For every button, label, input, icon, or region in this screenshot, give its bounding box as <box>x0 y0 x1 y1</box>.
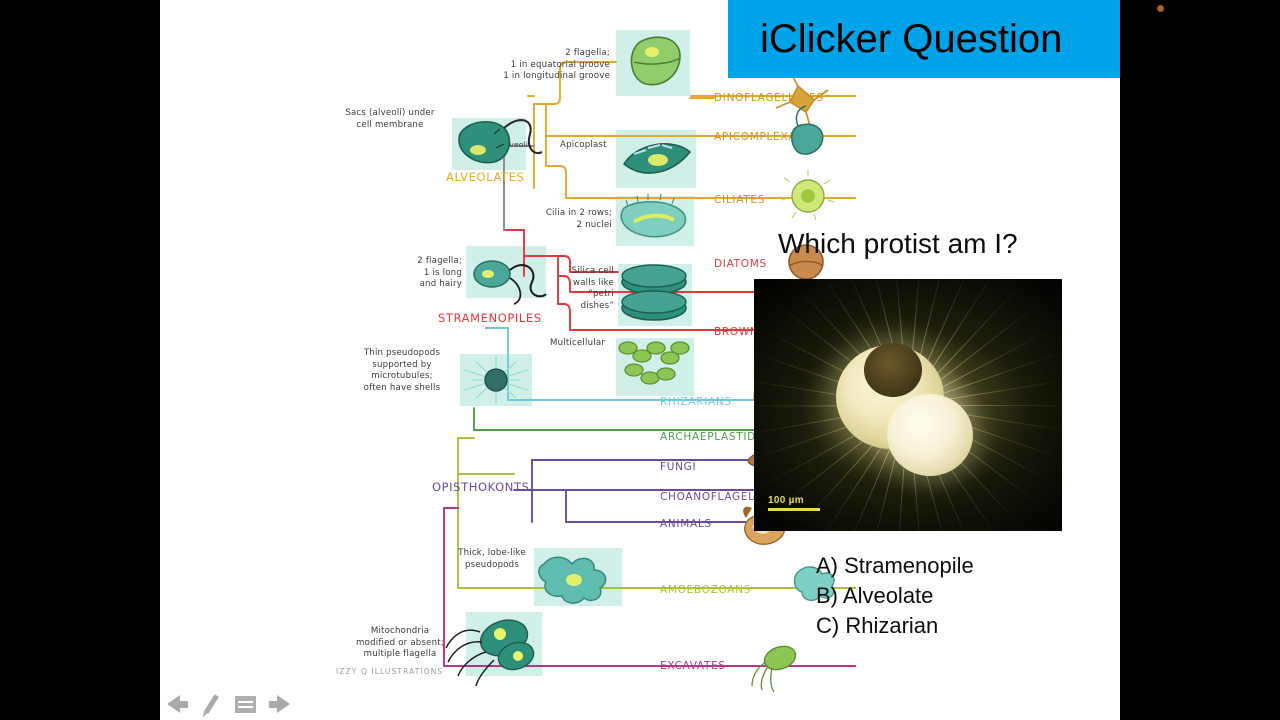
scale-bar: 100 µm <box>768 495 822 511</box>
apicomplexan-cell-drawing <box>624 144 690 173</box>
previous-slide-button[interactable] <box>164 692 190 716</box>
micrograph-vignette <box>754 279 1062 531</box>
rhizarian-cell-drawing <box>464 356 528 404</box>
ciliate-cell-drawing <box>621 194 685 237</box>
excavate-cell-drawing <box>446 614 537 686</box>
ciliate-icon <box>782 170 834 220</box>
dinoflagellate-icon <box>776 72 828 126</box>
slide-menu-button[interactable] <box>232 692 258 716</box>
alveolate-cell-drawing <box>459 120 542 163</box>
answer-option-b[interactable]: B) Alveolate <box>816 581 974 611</box>
banner-title: iClicker Question <box>728 17 1062 62</box>
brown-algae-cell-drawing <box>619 342 689 384</box>
apicomplexan-icon <box>792 106 823 154</box>
excavate-icon <box>752 642 799 692</box>
iclicker-question-banner: iClicker Question <box>728 0 1120 78</box>
dinoflagellate-drawing <box>631 37 680 85</box>
scale-bar-label: 100 µm <box>768 495 822 506</box>
arrow-left-icon <box>167 695 188 713</box>
menu-icon <box>235 696 256 713</box>
question-prompt: Which protist am I? <box>778 228 1018 260</box>
presentation-controls <box>164 692 292 716</box>
arrow-right-icon <box>269 695 290 713</box>
diatom-cell-drawing <box>622 265 686 320</box>
radiolarian-micrograph: 100 µm <box>754 279 1062 531</box>
answer-option-a[interactable]: A) Stramenopile <box>816 551 974 581</box>
stramenopile-cell-drawing <box>474 261 546 304</box>
pen-icon <box>204 694 219 714</box>
slide-canvas: 2 flagella; 1 in equatorial groove 1 in … <box>160 0 1120 720</box>
slide-viewer: 2 flagella; 1 in equatorial groove 1 in … <box>0 0 1280 720</box>
scale-bar-line <box>768 508 820 511</box>
pen-tool-button[interactable] <box>198 692 224 716</box>
answer-options: A) Stramenopile B) Alveolate C) Rhizaria… <box>816 551 974 641</box>
decorative-dot <box>1157 5 1164 12</box>
amoebozoan-cell-drawing <box>539 557 606 603</box>
next-slide-button[interactable] <box>266 692 292 716</box>
figure-credit: IZZY Q ILLUSTRATIONS <box>336 667 443 676</box>
answer-option-c[interactable]: C) Rhizarian <box>816 611 974 641</box>
